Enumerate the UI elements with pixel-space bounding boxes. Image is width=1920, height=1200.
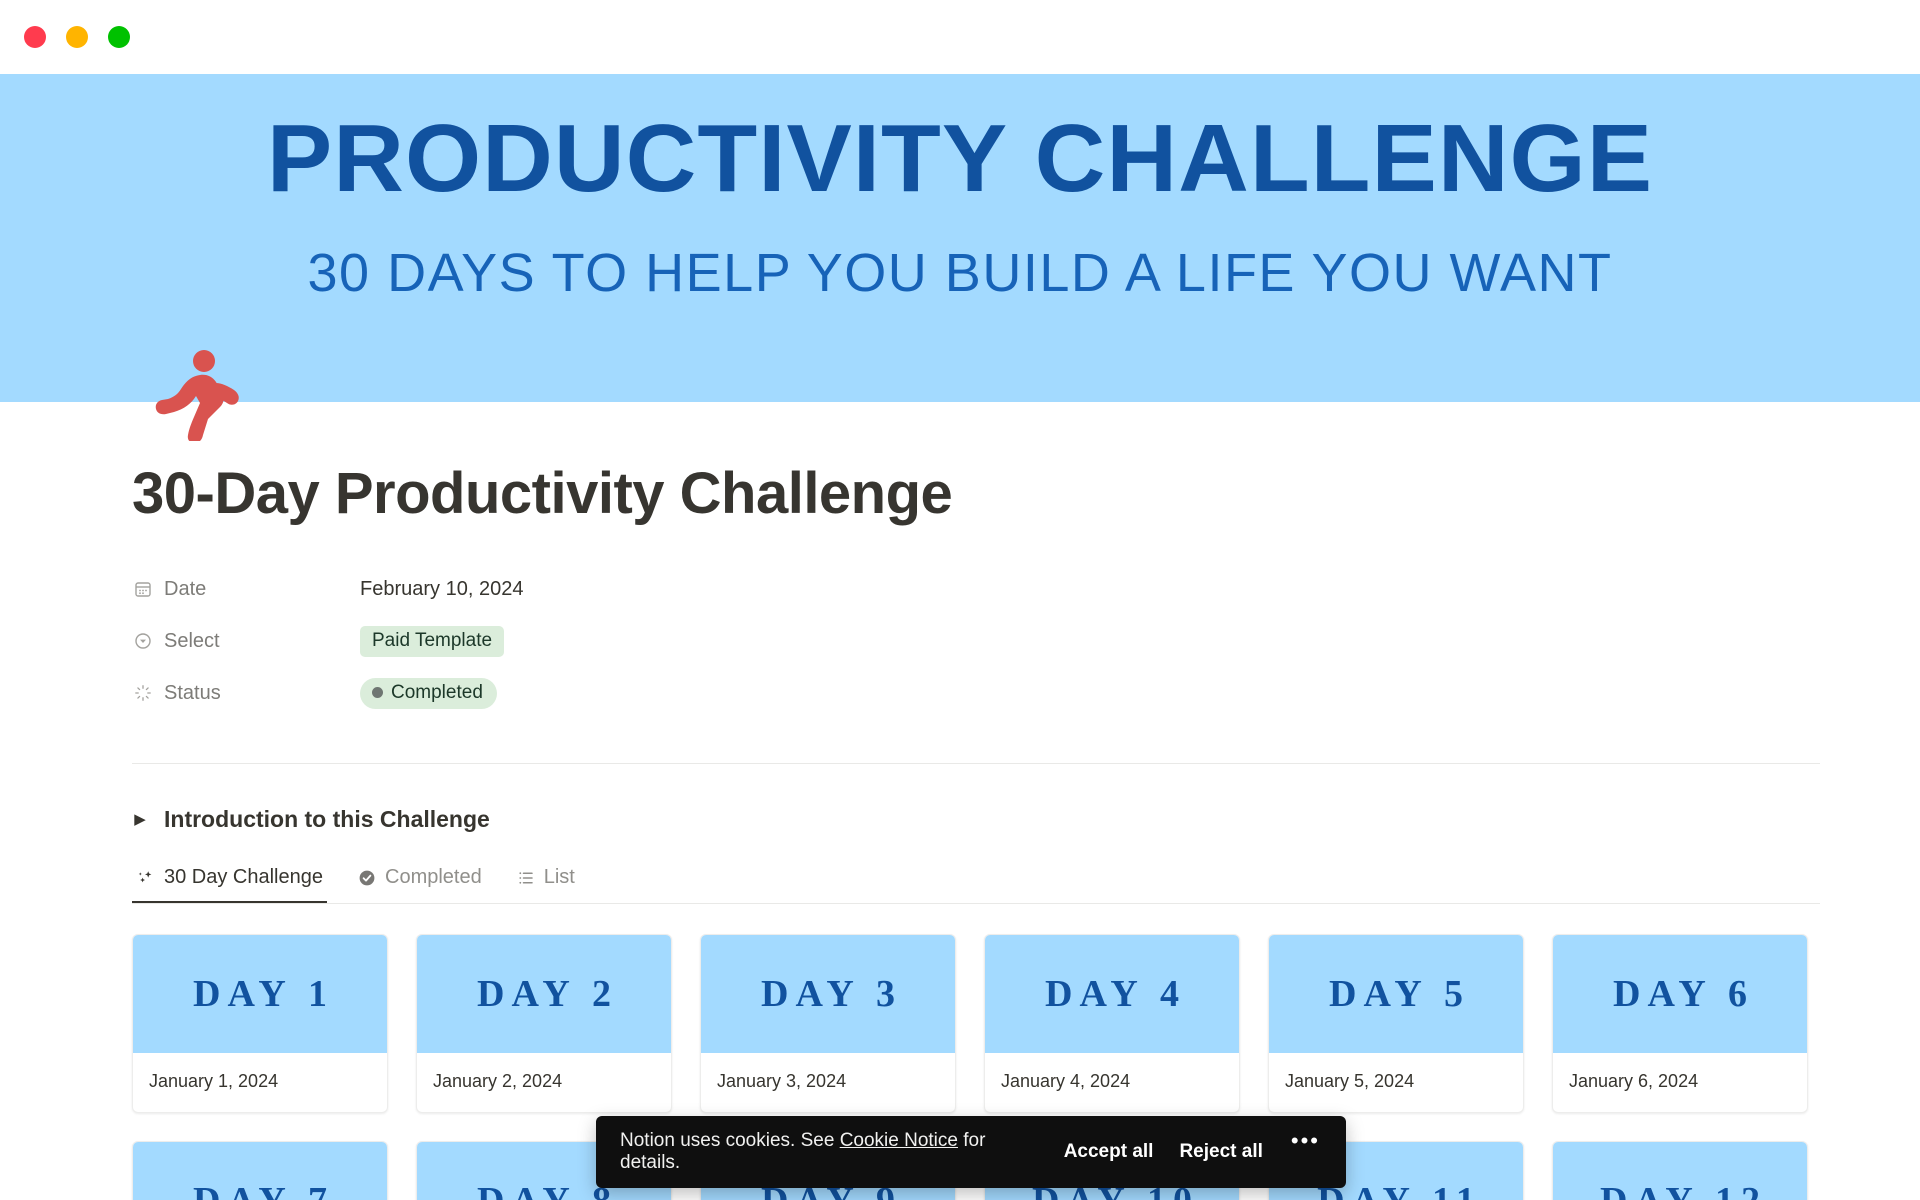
property-name-status: Status — [164, 682, 221, 705]
day-card-cover: DAY 3 — [701, 935, 955, 1053]
database-views-bar: 30 Day Challenge Completed — [132, 866, 1820, 904]
day-card-title: DAY 2 — [470, 972, 618, 1016]
page-icon[interactable] — [148, 345, 244, 441]
status-dot-icon — [372, 687, 383, 698]
status-badge: Completed — [360, 678, 497, 709]
maximize-button[interactable] — [108, 26, 130, 48]
day-card[interactable]: DAY 2 January 2, 2024 — [416, 934, 672, 1113]
property-value-select[interactable]: Paid Template — [360, 626, 504, 657]
calendar-icon — [132, 578, 154, 600]
app-window: PRODUCTIVITY CHALLENGE 30 DAYS TO HELP Y… — [0, 0, 1920, 1200]
day-card-cover: DAY 5 — [1269, 935, 1523, 1053]
tab-label-completed: Completed — [385, 866, 482, 889]
check-circle-icon — [357, 868, 377, 888]
property-label-select: Select — [132, 630, 360, 653]
page-cover-banner[interactable]: PRODUCTIVITY CHALLENGE 30 DAYS TO HELP Y… — [0, 74, 1920, 402]
property-name-select: Select — [164, 630, 220, 653]
page-title[interactable]: 30-Day Productivity Challenge — [132, 460, 1820, 527]
day-card-title: DAY 3 — [754, 972, 902, 1016]
day-card-cover: DAY 12 — [1553, 1142, 1807, 1200]
tab-completed[interactable]: Completed — [353, 866, 486, 903]
property-row-select[interactable]: Select Paid Template — [132, 615, 1820, 667]
page-properties: Date February 10, 2024 Select Paid Templ… — [132, 563, 1820, 719]
day-card-title: DAY 4 — [1038, 972, 1186, 1016]
property-name-date: Date — [164, 578, 206, 601]
day-card[interactable]: DAY 1 January 1, 2024 — [132, 934, 388, 1113]
tab-30-day-challenge[interactable]: 30 Day Challenge — [132, 866, 327, 903]
day-card[interactable]: DAY 6 January 6, 2024 — [1552, 934, 1808, 1113]
property-label-date: Date — [132, 578, 360, 601]
banner-subtitle: 30 DAYS TO HELP YOU BUILD A LIFE YOU WAN… — [0, 242, 1920, 304]
day-card[interactable]: DAY 3 January 3, 2024 — [700, 934, 956, 1113]
cookie-notice-link[interactable]: Cookie Notice — [840, 1130, 958, 1151]
tab-label-list: List — [544, 866, 575, 889]
day-card[interactable]: DAY 12 January 12, 2024 — [1552, 1141, 1808, 1200]
day-card-title: DAY 7 — [186, 1179, 334, 1200]
day-card-body: January 5, 2024 — [1269, 1053, 1523, 1112]
day-card-title: DAY 12 — [1593, 1179, 1767, 1200]
select-tag-pill: Paid Template — [360, 626, 504, 657]
content-divider — [132, 763, 1820, 764]
window-controls — [24, 26, 130, 48]
status-spinner-icon — [132, 682, 154, 704]
running-person-icon — [148, 345, 244, 441]
day-card-body: January 6, 2024 — [1553, 1053, 1807, 1112]
day-card-date: January 6, 2024 — [1569, 1071, 1791, 1092]
day-card-date: January 4, 2024 — [1001, 1071, 1223, 1092]
day-card-body: January 1, 2024 — [133, 1053, 387, 1112]
minimize-button[interactable] — [66, 26, 88, 48]
day-card-date: January 5, 2024 — [1285, 1071, 1507, 1092]
day-card-date: January 3, 2024 — [717, 1071, 939, 1092]
toggle-introduction[interactable]: ▶ Introduction to this Challenge — [132, 800, 1820, 838]
tab-list[interactable]: List — [512, 866, 579, 903]
close-button[interactable] — [24, 26, 46, 48]
chevron-right-icon[interactable]: ▶ — [132, 811, 148, 827]
status-badge-label: Completed — [391, 682, 483, 704]
page-content: 30-Day Productivity Challenge — [0, 460, 1920, 1200]
day-card-cover: DAY 4 — [985, 935, 1239, 1053]
reject-all-button[interactable]: Reject all — [1179, 1141, 1262, 1163]
cookie-message: Notion uses cookies. See Cookie Notice f… — [620, 1130, 1038, 1174]
day-card-title: DAY 5 — [1322, 972, 1470, 1016]
title-bar — [0, 0, 1920, 74]
day-card-cover: DAY 7 — [133, 1142, 387, 1200]
cookie-text-before: Notion uses cookies. See — [620, 1130, 840, 1151]
database-tabs: 30 Day Challenge Completed — [132, 866, 1820, 903]
list-icon — [516, 868, 536, 888]
day-card-body: January 3, 2024 — [701, 1053, 955, 1112]
day-card-body: January 2, 2024 — [417, 1053, 671, 1112]
day-card-cover: DAY 1 — [133, 935, 387, 1053]
day-card-date: January 1, 2024 — [149, 1071, 371, 1092]
accept-all-button[interactable]: Accept all — [1064, 1141, 1154, 1163]
select-circle-icon — [132, 630, 154, 652]
cookie-consent-banner: Notion uses cookies. See Cookie Notice f… — [596, 1116, 1346, 1188]
property-value-status[interactable]: Completed — [360, 678, 497, 709]
day-card-cover: DAY 2 — [417, 935, 671, 1053]
day-card-cover: DAY 6 — [1553, 935, 1807, 1053]
day-card[interactable]: DAY 5 January 5, 2024 — [1268, 934, 1524, 1113]
day-card-date: January 2, 2024 — [433, 1071, 655, 1092]
banner-underline-swoosh — [300, 400, 1680, 402]
property-row-date[interactable]: Date February 10, 2024 — [132, 563, 1820, 615]
day-card-title: DAY 1 — [186, 972, 334, 1016]
banner-title: PRODUCTIVITY CHALLENGE — [0, 104, 1920, 214]
day-card-title: DAY 6 — [1606, 972, 1754, 1016]
tab-label-30-day-challenge: 30 Day Challenge — [164, 866, 323, 889]
property-label-status: Status — [132, 682, 360, 705]
day-card[interactable]: DAY 4 January 4, 2024 — [984, 934, 1240, 1113]
property-row-status[interactable]: Status Completed — [132, 667, 1820, 719]
property-value-date[interactable]: February 10, 2024 — [360, 578, 523, 601]
day-card-body: January 4, 2024 — [985, 1053, 1239, 1112]
toggle-label: Introduction to this Challenge — [164, 806, 490, 833]
day-card[interactable]: DAY 7 January 7, 2024 — [132, 1141, 388, 1200]
sparkles-icon — [136, 868, 156, 888]
more-options-icon[interactable]: ••• — [1291, 1128, 1320, 1154]
